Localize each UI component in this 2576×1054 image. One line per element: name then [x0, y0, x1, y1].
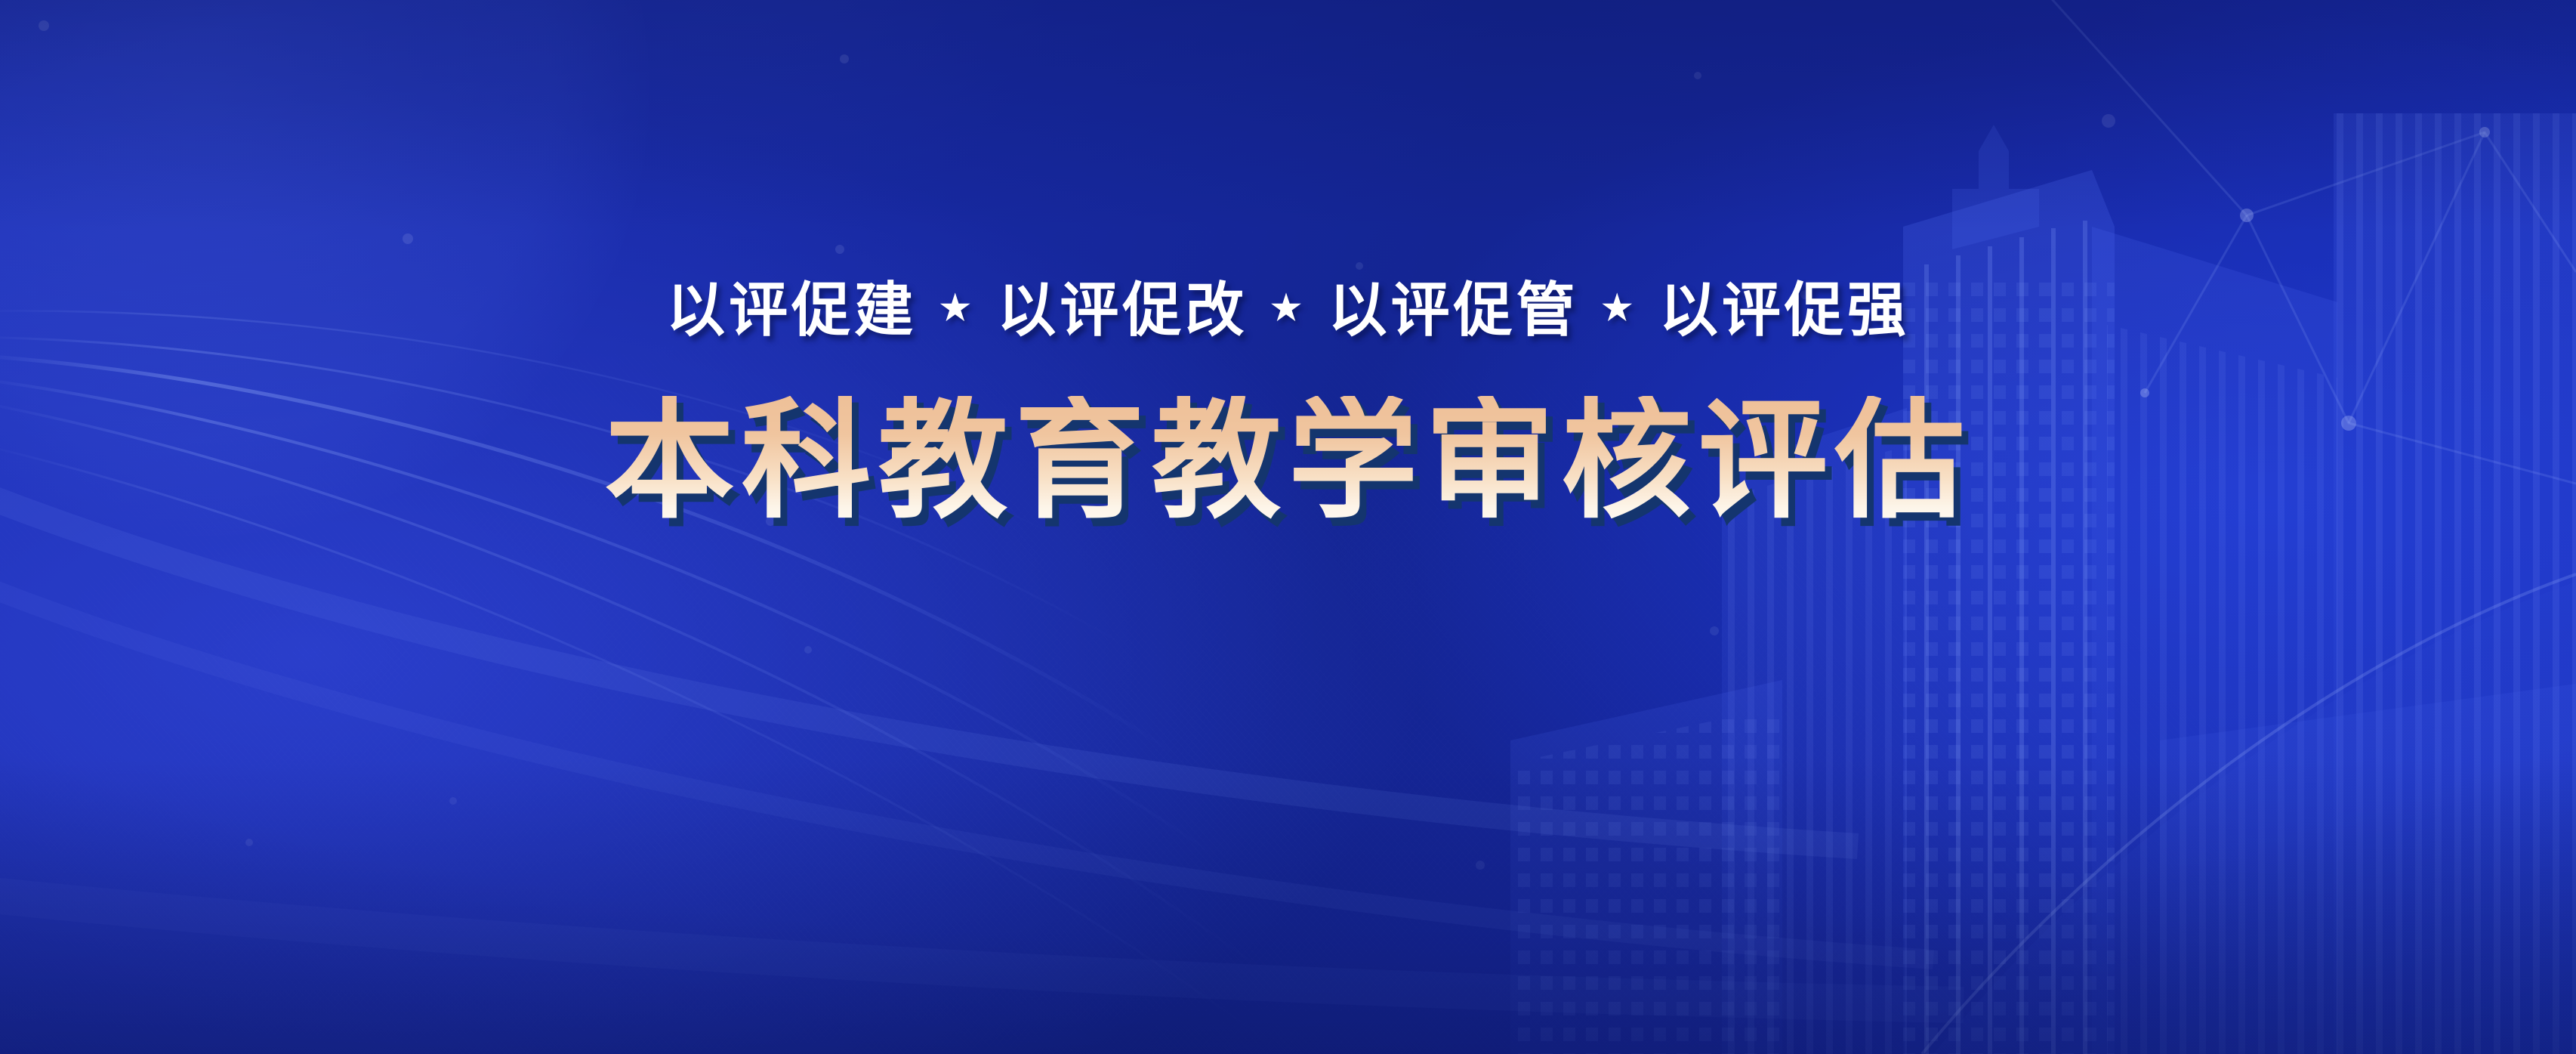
evaluation-banner: 以评促建 ★ 以评促改 ★ 以评促管 ★ 以评促强 本科教育教学审核评估 本科教… — [0, 0, 2576, 1054]
banner-content: 以评促建 ★ 以评促改 ★ 以评促管 ★ 以评促强 本科教育教学审核评估 本科教… — [0, 0, 2576, 1054]
slogan-phrase-2: 以评促改 — [997, 281, 1248, 340]
star-separator-icon: ★ — [939, 290, 974, 325]
page-title-text: 本科教育教学审核评估 — [605, 396, 1972, 526]
slogan-phrase-1: 以评促建 — [666, 281, 917, 340]
slogan-row: 以评促建 ★ 以评促改 ★ 以评促管 ★ 以评促强 — [666, 281, 1910, 340]
slogan-phrase-4: 以评促强 — [1659, 281, 1910, 340]
slogan-phrase-3: 以评促管 — [1328, 281, 1579, 340]
star-separator-icon: ★ — [1602, 290, 1637, 325]
page-title: 本科教育教学审核评估 本科教育教学审核评估 — [605, 396, 1972, 526]
star-separator-icon: ★ — [1270, 290, 1305, 325]
